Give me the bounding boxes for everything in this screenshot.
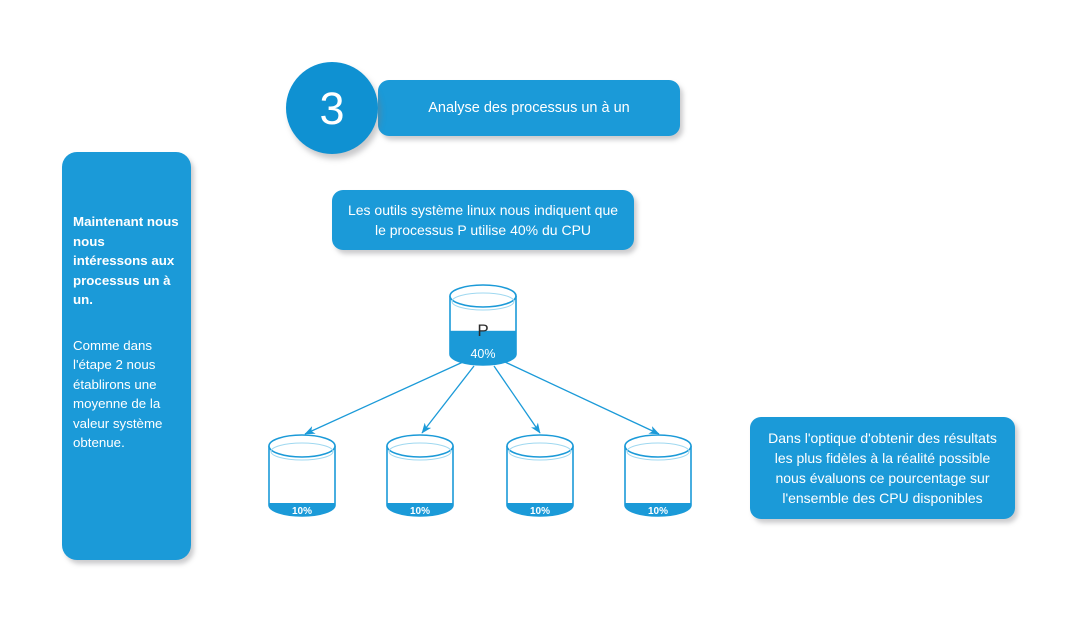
cylinder-child-4: 10% bbox=[621, 433, 695, 521]
slide-title-text: Analyse des processus un à un bbox=[428, 100, 630, 116]
arrow-to-child-2 bbox=[422, 366, 474, 433]
cylinder-child-3: 10% bbox=[503, 433, 577, 521]
cylinder-child-4-percent: 10% bbox=[621, 507, 695, 517]
callout-top: Les outils système linux nous indiquent … bbox=[332, 190, 634, 250]
sidebar-paragraph-primary: Maintenant nous nous intéressons aux pro… bbox=[73, 212, 180, 310]
cylinder-child-1-percent: 10% bbox=[265, 507, 339, 517]
callout-right-text: Dans l'optique d'obtenir des résultats l… bbox=[758, 428, 1007, 508]
step-number-badge: 3 bbox=[286, 62, 378, 154]
cylinder-child-3-percent: 10% bbox=[503, 507, 577, 517]
cylinder-child-2-percent: 10% bbox=[383, 507, 457, 517]
cylinder-child-2: 10% bbox=[383, 433, 457, 521]
sidebar-paragraph-spacer bbox=[73, 310, 180, 336]
callout-top-text: Les outils système linux nous indiquent … bbox=[342, 200, 624, 240]
step-number-label: 3 bbox=[319, 86, 344, 131]
arrow-to-child-1 bbox=[305, 362, 463, 434]
callout-right: Dans l'optique d'obtenir des résultats l… bbox=[750, 417, 1015, 519]
slide-canvas: 3 Analyse des processus un à un Maintena… bbox=[0, 0, 1076, 625]
arrow-to-child-4 bbox=[505, 362, 659, 434]
arrow-to-child-3 bbox=[494, 366, 540, 433]
cylinder-child-1: 10% bbox=[265, 433, 339, 521]
cylinder-parent-percent: 40% bbox=[446, 348, 520, 361]
cylinder-parent-label: P bbox=[446, 322, 520, 339]
slide-title-bar: Analyse des processus un à un bbox=[378, 80, 680, 136]
cylinder-parent: P 40% bbox=[446, 282, 520, 368]
sidebar-panel: Maintenant nous nous intéressons aux pro… bbox=[62, 152, 191, 560]
sidebar-paragraph-secondary: Comme dans l'étape 2 nous établirons une… bbox=[73, 336, 180, 453]
